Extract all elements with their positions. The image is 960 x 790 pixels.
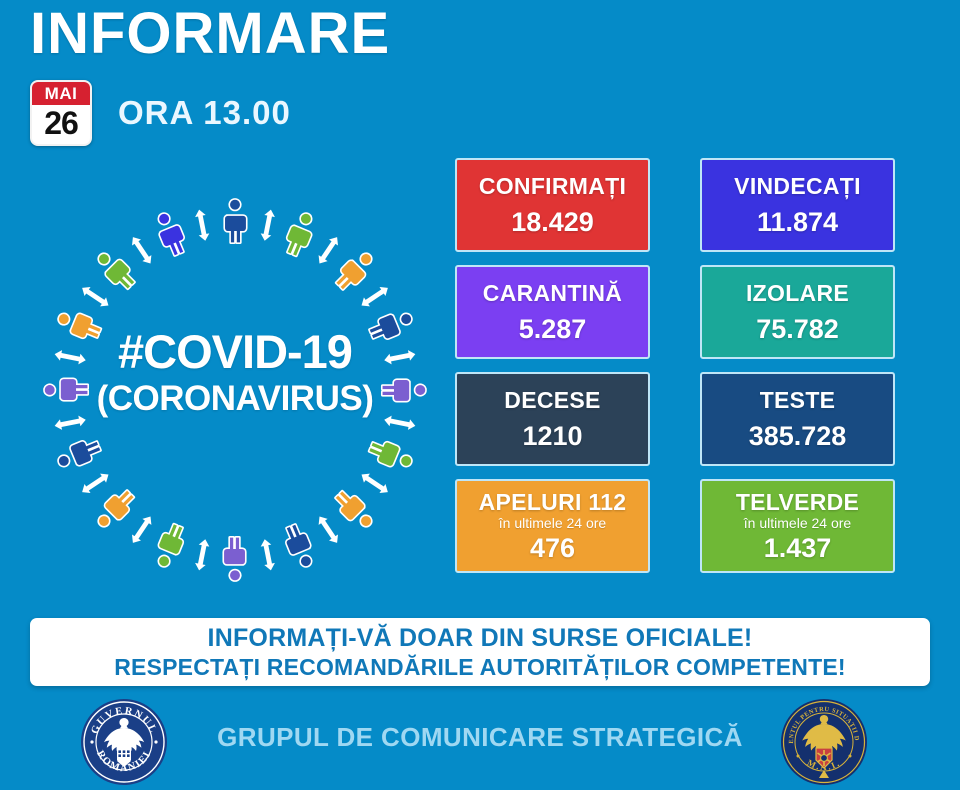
hour-label: ORA 13.00 [118,94,291,132]
banner-line-1: INFORMAȚI-VĂ DOAR DIN SURSE OFICIALE! [208,623,753,653]
person-icon [45,379,88,400]
statistics-grid: CONFIRMAȚI18.429VINDECAȚI11.874CARANTINĂ… [455,158,895,573]
double-arrow-icon [79,283,111,310]
people-circle-icon: #COVID-19 (CORONAVIRUS) [25,178,445,603]
person-icon [367,437,414,473]
person-icon [93,487,138,532]
card-note: în ultimele 24 ore [499,515,606,531]
person-icon [153,210,189,257]
person-icon [152,522,188,569]
person-icon [332,487,377,532]
person-icon [383,380,426,401]
double-arrow-icon [194,209,211,242]
card-label: APELURI 112 [479,488,627,516]
card-note: în ultimele 24 ore [744,515,851,531]
person-icon [282,210,318,257]
double-arrow-icon [54,414,87,431]
double-arrow-icon [128,514,155,546]
person-icon [224,538,245,581]
person-icon [368,308,415,344]
card-vindecati: VINDECAȚI11.874 [700,158,895,252]
person-icon [281,523,317,570]
card-value: 5.287 [519,313,587,345]
calendar-day-label: 26 [32,105,90,144]
header: INFORMARE MAI 26 ORA 13.00 [0,0,960,160]
footer: GUVERNUL ROMÂNIEI GRUPUL DE [0,694,960,790]
card-label: TESTE [760,386,836,414]
card-value: 1.437 [764,532,832,564]
double-arrow-icon [194,538,211,571]
card-label: DECESE [504,386,600,414]
person-icon [332,248,377,293]
card-confirmati: CONFIRMAȚI18.429 [455,158,650,252]
double-arrow-icon [315,514,342,546]
banner-line-2: RESPECTAȚI RECOMANDĂRILE AUTORITĂȚILOR C… [114,653,846,681]
card-label: IZOLARE [746,279,849,307]
double-arrow-icon [259,538,276,571]
person-icon [55,436,102,472]
double-arrow-icon [315,234,342,266]
official-sources-banner: INFORMAȚI-VĂ DOAR DIN SURSE OFICIALE! RE… [30,618,930,686]
double-arrow-icon [359,470,391,497]
card-izolare: IZOLARE75.782 [700,265,895,359]
card-carantina: CARANTINĂ5.287 [455,265,650,359]
card-value: 385.728 [749,420,847,452]
person-icon [225,200,246,243]
double-arrow-icon [128,234,155,266]
card-label: TELVERDE [736,488,859,516]
page-title: INFORMARE [30,2,390,66]
card-decese: DECESE1210 [455,372,650,466]
date-row: MAI 26 ORA 13.00 [30,80,291,146]
card-label: VINDECAȚI [734,172,861,200]
card-value: 75.782 [756,313,839,345]
card-value: 1210 [522,420,582,452]
person-icon [93,248,138,293]
double-arrow-icon [359,283,391,310]
card-value: 18.429 [511,206,594,238]
double-arrow-icon [259,209,276,242]
card-apeluri-112: APELURI 112în ultimele 24 ore476 [455,479,650,573]
people-circle-svg [25,178,445,603]
card-label: CONFIRMAȚI [479,172,626,200]
double-arrow-icon [54,349,87,366]
card-label: CARANTINĂ [483,279,622,307]
card-value: 476 [530,532,575,564]
person-icon [55,307,102,343]
dsu-mai-seal-icon: DEPARTAMENTUL PENTRU SITUAȚII DE URGENȚĂ… [780,698,868,786]
double-arrow-icon [383,349,416,366]
calendar-month-label: MAI [32,82,90,105]
calendar-icon: MAI 26 [30,80,92,146]
double-arrow-icon [79,470,111,497]
double-arrow-icon [383,414,416,431]
card-telverde: TELVERDEîn ultimele 24 ore1.437 [700,479,895,573]
card-value: 11.874 [757,206,838,238]
card-teste: TESTE385.728 [700,372,895,466]
